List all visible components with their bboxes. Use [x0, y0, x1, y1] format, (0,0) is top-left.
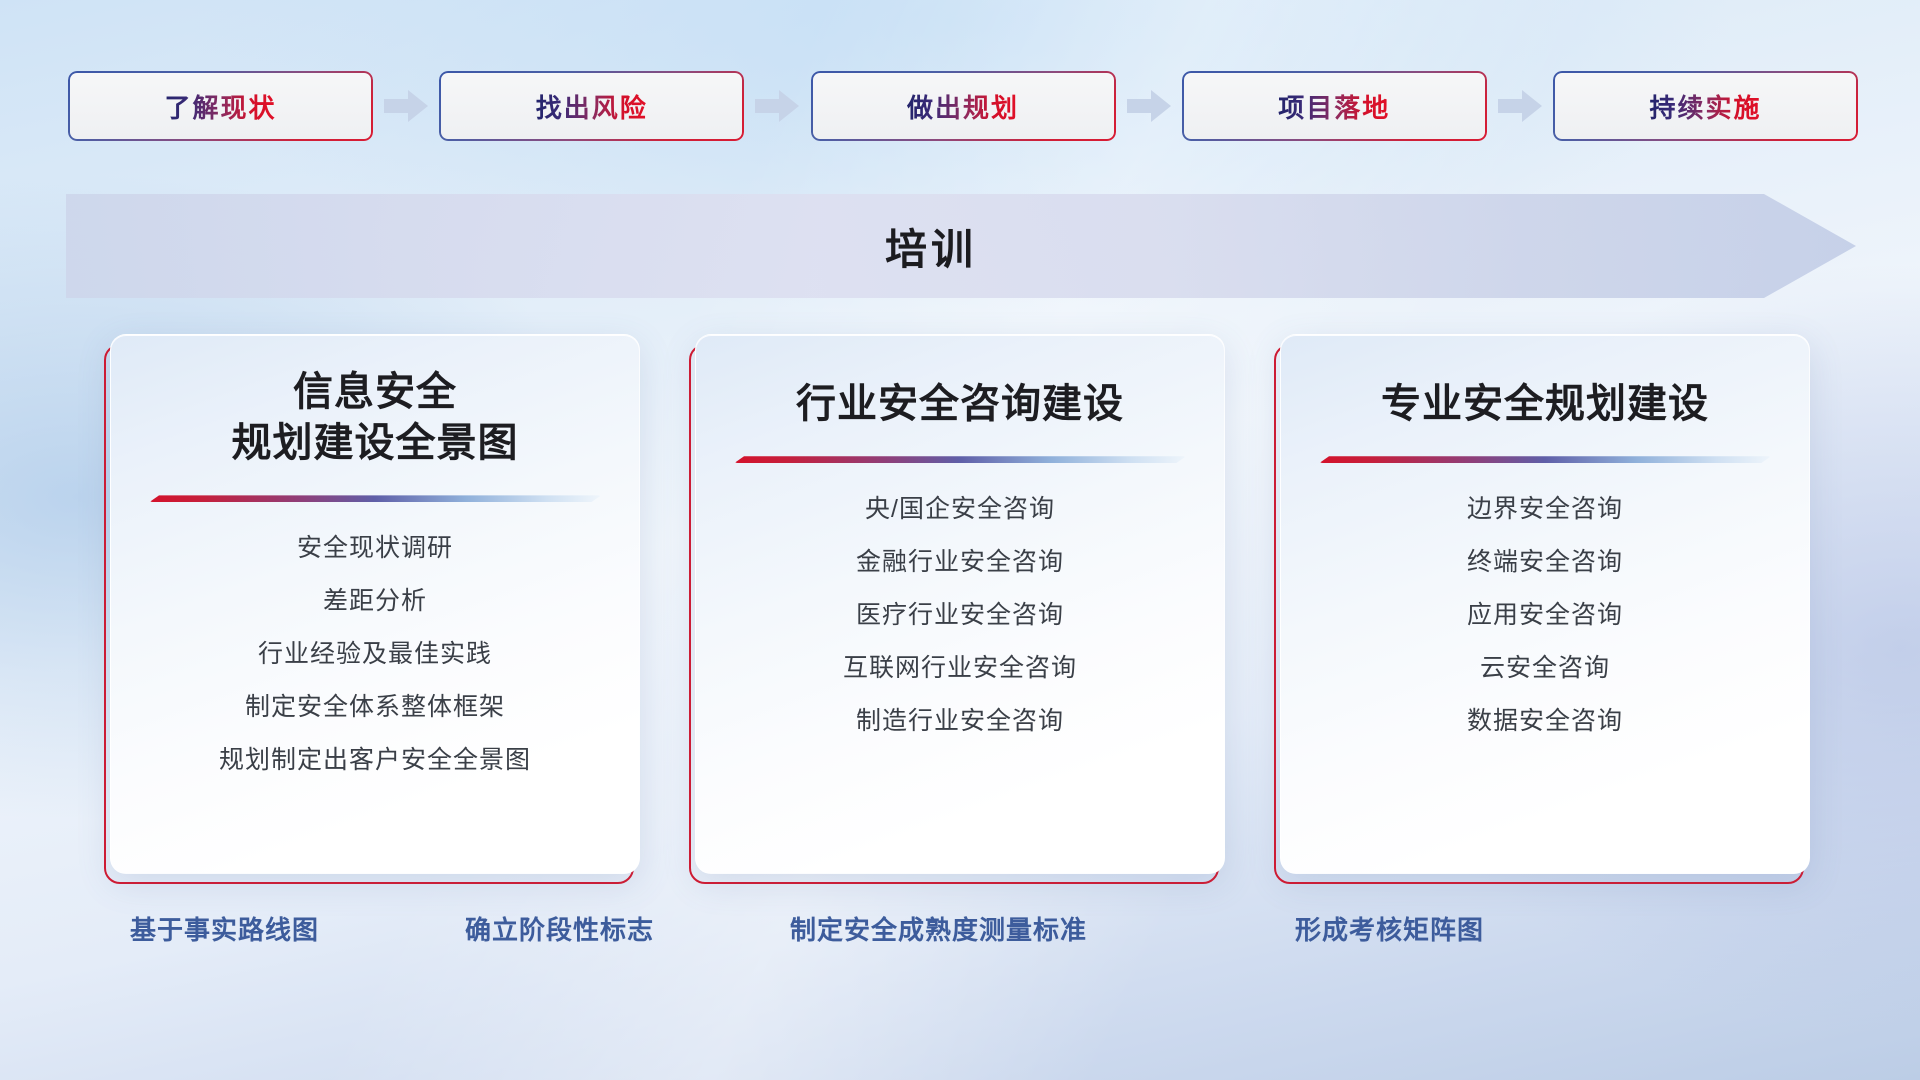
card-title-line: 信息安全 [232, 367, 519, 418]
process-step-2[interactable]: 找出风险 [439, 71, 744, 141]
list-item: 安全现状调研 [111, 536, 639, 561]
card-title-line: 行业安全咨询建设 [796, 379, 1124, 430]
card-title: 信息安全规划建设全景图 [208, 367, 543, 469]
card-divider [1319, 456, 1771, 463]
card-body: 行业安全咨询建设央/国企安全咨询金融行业安全咨询医疗行业安全咨询互联网行业安全咨… [695, 334, 1225, 874]
card-divider [149, 495, 601, 502]
list-item: 规划制定出客户安全全景图 [111, 748, 639, 773]
process-step-3[interactable]: 做出规划 [811, 71, 1116, 141]
list-item: 互联网行业安全咨询 [696, 656, 1224, 681]
list-item: 制造行业安全咨询 [696, 709, 1224, 734]
card-title-line: 专业安全规划建设 [1381, 379, 1709, 430]
list-item: 云安全咨询 [1281, 656, 1809, 681]
process-step-label: 找出风险 [536, 88, 648, 125]
footer-label-row: 基于事实路线图确立阶段性标志制定安全成熟度测量标准形成考核矩阵图 [0, 910, 1920, 960]
slide-canvas: 了解现状找出风险做出规划项目落地持续实施 培训 信息安全规划建设全景图安全现状调… [0, 0, 1920, 1080]
card-row: 信息安全规划建设全景图安全现状调研差距分析行业经验及最佳实践制定安全体系整体框架… [110, 334, 1810, 874]
card-title: 行业安全咨询建设 [772, 379, 1148, 430]
card-title: 专业安全规划建设 [1357, 379, 1733, 430]
card-item-list: 边界安全咨询终端安全咨询应用安全咨询云安全咨询数据安全咨询 [1281, 497, 1809, 734]
list-item: 金融行业安全咨询 [696, 550, 1224, 575]
arrow-right-icon [755, 89, 799, 123]
process-step-row: 了解现状找出风险做出规划项目落地持续实施 [68, 71, 1858, 141]
process-step-label: 了解现状 [164, 88, 276, 125]
list-item: 终端安全咨询 [1281, 550, 1809, 575]
arrow-right-icon [1127, 89, 1171, 123]
card-item-list: 央/国企安全咨询金融行业安全咨询医疗行业安全咨询互联网行业安全咨询制造行业安全咨… [696, 497, 1224, 734]
list-item: 央/国企安全咨询 [696, 497, 1224, 522]
card-divider [734, 456, 1186, 463]
footer-label-3: 制定安全成熟度测量标准 [790, 910, 1087, 947]
card-body: 专业安全规划建设边界安全咨询终端安全咨询应用安全咨询云安全咨询数据安全咨询 [1280, 334, 1810, 874]
footer-label-2: 确立阶段性标志 [465, 910, 654, 947]
arrow-right-icon [384, 89, 428, 123]
process-step-5[interactable]: 持续实施 [1553, 71, 1858, 141]
list-item: 行业经验及最佳实践 [111, 642, 639, 667]
card-title-line: 规划建设全景图 [232, 418, 519, 469]
process-step-1[interactable]: 了解现状 [68, 71, 373, 141]
card-item-list: 安全现状调研差距分析行业经验及最佳实践制定安全体系整体框架规划制定出客户安全全景… [111, 536, 639, 773]
footer-label-1: 基于事实路线图 [130, 910, 319, 947]
list-item: 边界安全咨询 [1281, 497, 1809, 522]
service-card-2[interactable]: 行业安全咨询建设央/国企安全咨询金融行业安全咨询医疗行业安全咨询互联网行业安全咨… [695, 334, 1225, 874]
list-item: 医疗行业安全咨询 [696, 603, 1224, 628]
list-item: 数据安全咨询 [1281, 709, 1809, 734]
card-body: 信息安全规划建设全景图安全现状调研差距分析行业经验及最佳实践制定安全体系整体框架… [110, 334, 640, 874]
process-step-4[interactable]: 项目落地 [1182, 71, 1487, 141]
service-card-1[interactable]: 信息安全规划建设全景图安全现状调研差距分析行业经验及最佳实践制定安全体系整体框架… [110, 334, 640, 874]
footer-label-4: 形成考核矩阵图 [1295, 910, 1484, 947]
list-item: 差距分析 [111, 589, 639, 614]
service-card-3[interactable]: 专业安全规划建设边界安全咨询终端安全咨询应用安全咨询云安全咨询数据安全咨询 [1280, 334, 1810, 874]
list-item: 制定安全体系整体框架 [111, 695, 639, 720]
training-banner: 培训 [66, 194, 1856, 298]
list-item: 应用安全咨询 [1281, 603, 1809, 628]
process-step-label: 持续实施 [1649, 88, 1761, 125]
banner-label: 培训 [66, 194, 1856, 298]
arrow-right-icon [1498, 89, 1542, 123]
process-step-label: 项目落地 [1278, 88, 1390, 125]
process-step-label: 做出规划 [907, 88, 1019, 125]
